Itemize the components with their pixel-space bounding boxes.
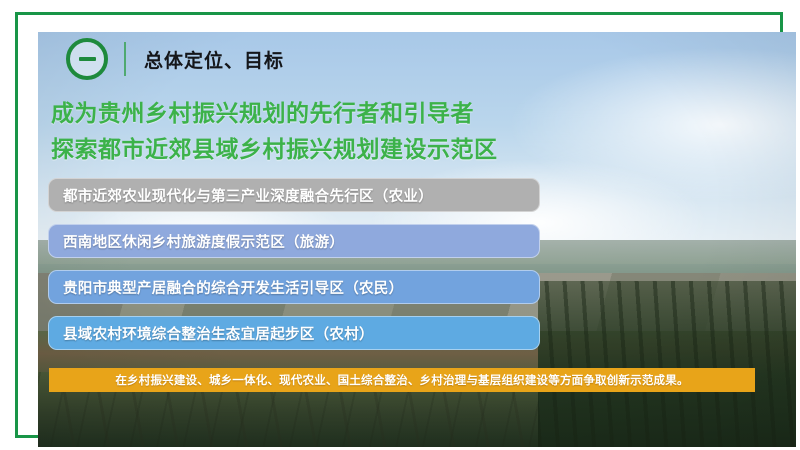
goal-banner: 在乡村振兴建设、城乡一体化、现代农业、国土综合整治、乡村治理与基层组织建设等方面… xyxy=(49,368,755,392)
headline-line-1: 成为贵州乡村振兴规划的先行者和引导者 xyxy=(51,95,751,131)
slide-green-frame: 总体定位、目标 成为贵州乡村振兴规划的先行者和引导者 探索都市近郊县域乡村振兴规… xyxy=(15,12,783,438)
list-item-label: 西南地区休闲乡村旅游度假示范区（旅游） xyxy=(63,231,344,252)
list-item-label: 县域农村环境综合整治生态宜居起步区（农村） xyxy=(63,323,374,344)
slide-root: 总体定位、目标 成为贵州乡村振兴规划的先行者和引导者 探索都市近郊县域乡村振兴规… xyxy=(0,0,800,450)
page-title: 总体定位、目标 xyxy=(144,46,284,73)
list-item[interactable]: 县域农村环境综合整治生态宜居起步区（农村） xyxy=(48,316,540,350)
headline-line-2: 探索都市近郊县域乡村振兴规划建设示范区 xyxy=(51,131,751,167)
list-item-label: 都市近郊农业现代化与第三产业深度融合先行区（农业） xyxy=(63,185,433,206)
list-item-label: 贵阳市典型产居融合的综合开发生活引导区（农民） xyxy=(63,277,403,298)
circle-one-icon xyxy=(66,38,108,80)
section-header: 总体定位、目标 xyxy=(66,36,284,82)
list-item[interactable]: 都市近郊农业现代化与第三产业深度融合先行区（农业） xyxy=(48,178,540,212)
positioning-bar-list: 都市近郊农业现代化与第三产业深度融合先行区（农业） 西南地区休闲乡村旅游度假示范… xyxy=(48,178,540,362)
headline-block: 成为贵州乡村振兴规划的先行者和引导者 探索都市近郊县域乡村振兴规划建设示范区 xyxy=(51,95,751,167)
list-item[interactable]: 贵阳市典型产居融合的综合开发生活引导区（农民） xyxy=(48,270,540,304)
header-divider xyxy=(124,42,126,76)
dash-glyph xyxy=(79,57,96,61)
goal-banner-text: 在乡村振兴建设、城乡一体化、现代农业、国土综合整治、乡村治理与基层组织建设等方面… xyxy=(115,372,688,388)
list-item[interactable]: 西南地区休闲乡村旅游度假示范区（旅游） xyxy=(48,224,540,258)
